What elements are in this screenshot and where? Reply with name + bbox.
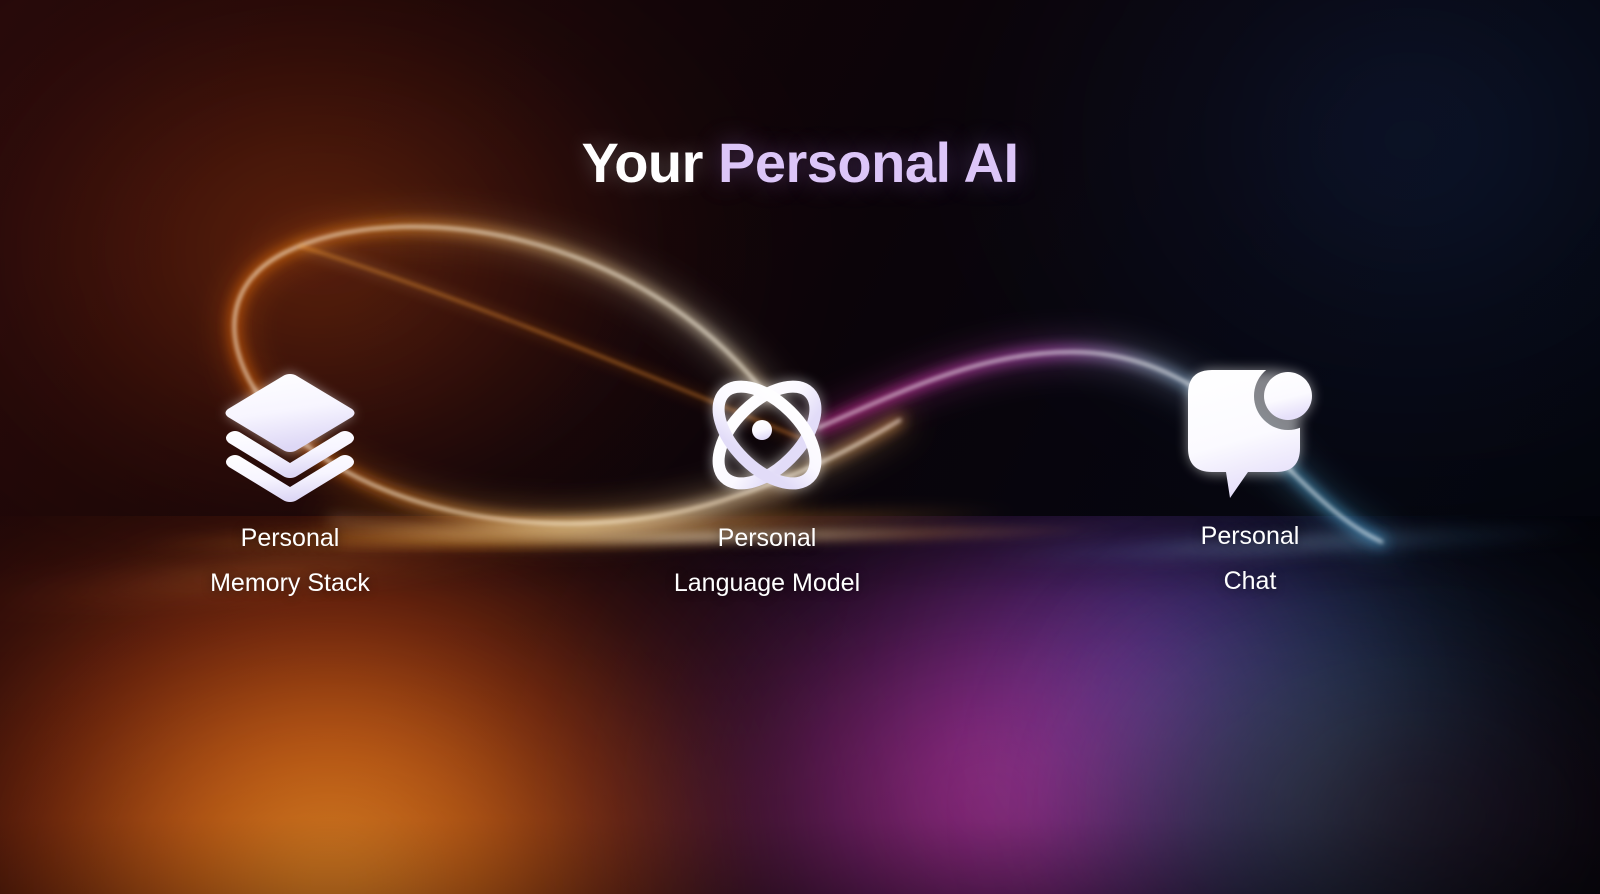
- chat-icon-wrap: [1100, 358, 1400, 508]
- memory-stack-label: Personal Memory Stack: [140, 516, 440, 605]
- chat-person-icon: [1182, 362, 1318, 504]
- title-word-personal-ai: Personal AI: [718, 131, 1019, 194]
- model-icon-wrap: [617, 360, 917, 510]
- page-title: Your Personal AI: [0, 132, 1600, 194]
- node-personal-language-model[interactable]: Personal Language Model: [617, 360, 917, 605]
- title-word-your: Your: [582, 131, 718, 194]
- node-personal-memory-stack[interactable]: Personal Memory Stack: [140, 360, 440, 605]
- hero-banner: Your Personal AI: [0, 0, 1600, 894]
- chat-label: Personal Chat: [1100, 514, 1400, 603]
- layers-stack-icon: [215, 367, 365, 503]
- memory-icon-wrap: [140, 360, 440, 510]
- atom-icon: [694, 362, 840, 508]
- language-model-label: Personal Language Model: [617, 516, 917, 605]
- node-personal-chat[interactable]: Personal Chat: [1100, 358, 1400, 603]
